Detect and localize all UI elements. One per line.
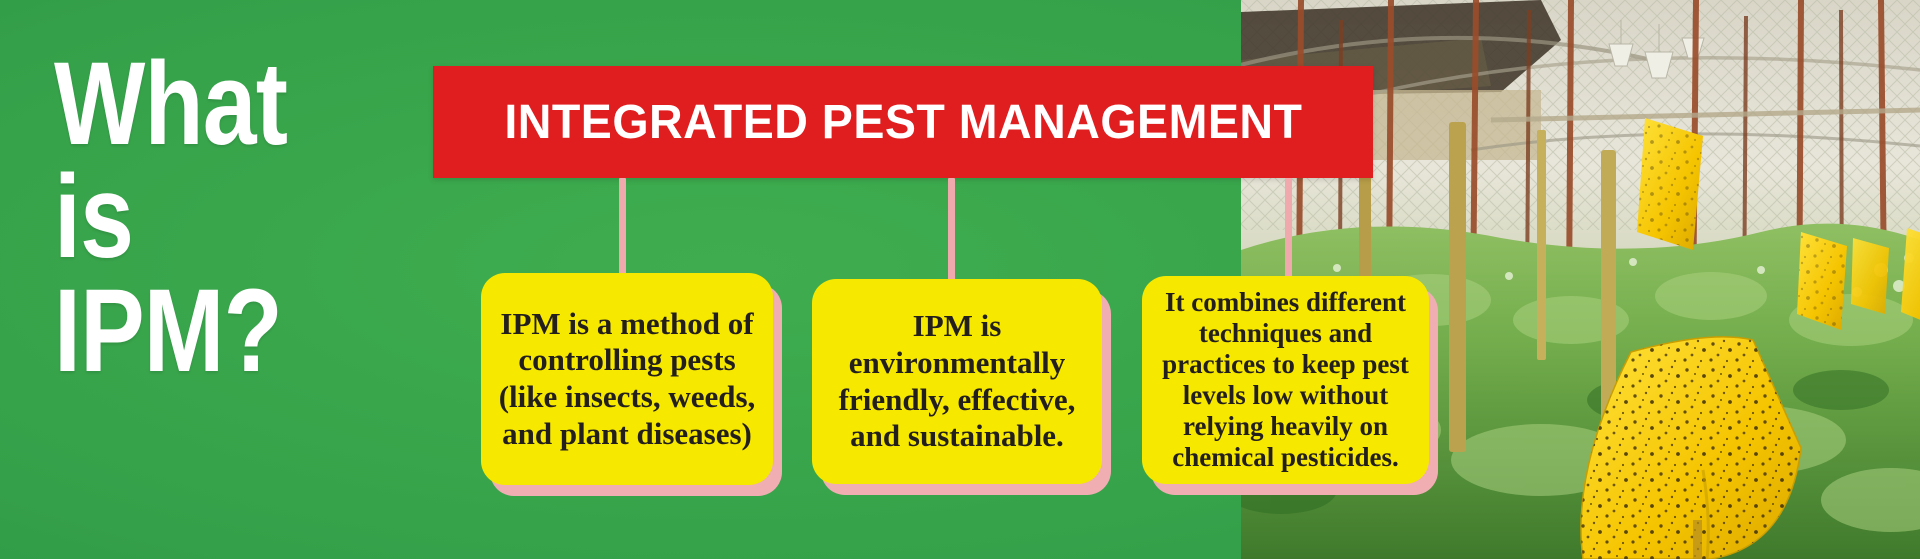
- page-title: What is IPM?: [54, 48, 384, 388]
- title-line-3: IPM?: [54, 275, 325, 388]
- banner-title: INTEGRATED PEST MANAGEMENT: [504, 95, 1302, 150]
- fact-card-2: IPM is environmentally friendly, effecti…: [812, 279, 1102, 484]
- ipm-infographic: What is IPM? INTEGRATED PEST MANAGEMENT …: [0, 0, 1920, 559]
- fact-card-2-text: IPM is environmentally friendly, effecti…: [812, 308, 1102, 454]
- connector-line-card-1: [619, 178, 626, 276]
- fact-card-1-text: IPM is a method of controlling pests (li…: [481, 306, 773, 452]
- fact-card-3-text: It combines different techniques and pra…: [1142, 287, 1429, 473]
- connector-line-card-3: [1285, 178, 1292, 278]
- title-line-1: What: [54, 48, 325, 161]
- title-line-2: is: [54, 161, 325, 274]
- banner-integrated-pest-management: INTEGRATED PEST MANAGEMENT: [433, 66, 1373, 178]
- fact-card-1: IPM is a method of controlling pests (li…: [481, 273, 773, 485]
- connector-line-card-2: [948, 178, 955, 280]
- fact-card-3: It combines different techniques and pra…: [1142, 276, 1429, 484]
